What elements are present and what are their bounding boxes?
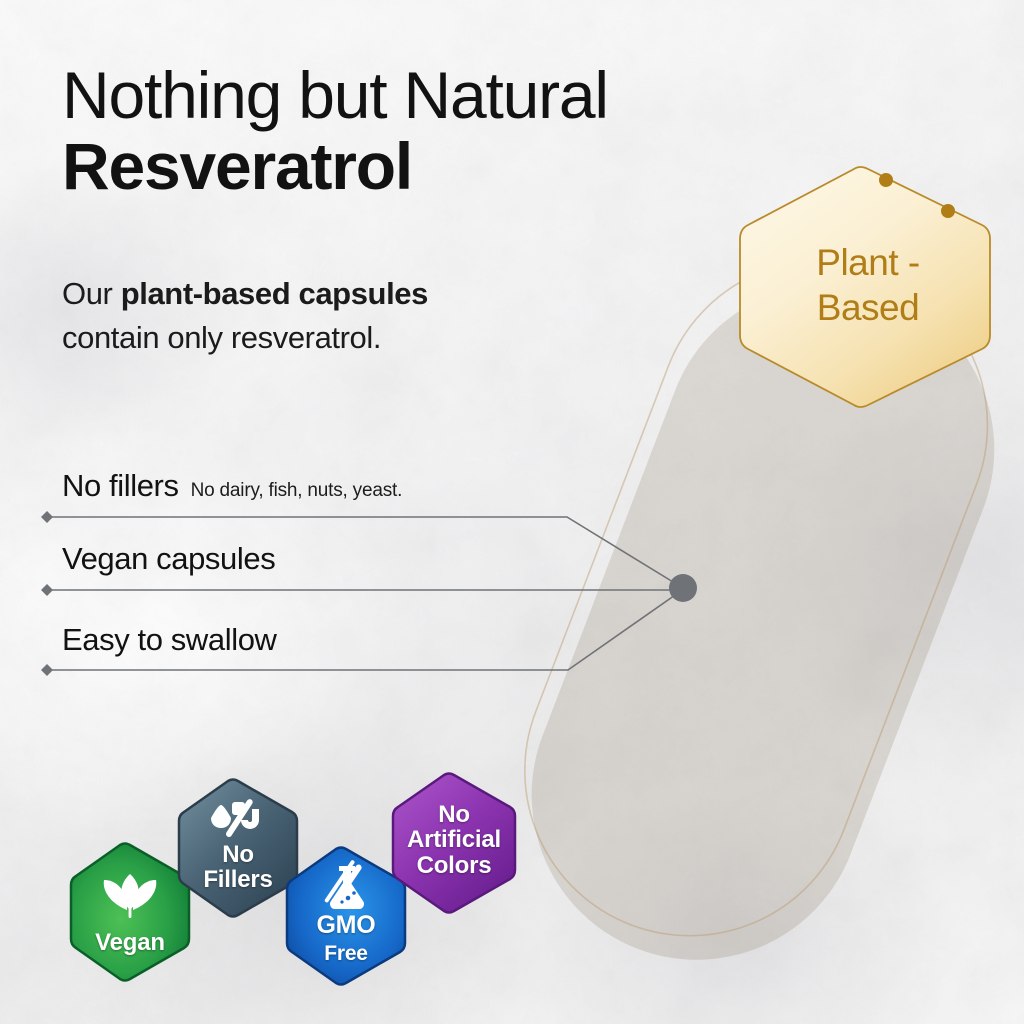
badge-label: GMO Free bbox=[284, 912, 408, 965]
badge-label-line-2: Artificial bbox=[407, 826, 501, 853]
headline-line-1: Nothing but Natural bbox=[62, 62, 822, 129]
subheading: Our plant-based capsules contain only re… bbox=[62, 272, 622, 360]
subheading-prefix: Our bbox=[62, 276, 121, 311]
callout-subtitle: No dairy, fish, nuts, yeast. bbox=[191, 480, 403, 501]
badge-no-fillers: No Fillers bbox=[176, 778, 300, 918]
badge-label-line-1: No bbox=[222, 841, 254, 868]
product-infographic: Nothing but Natural Resveratrol Our plan… bbox=[0, 0, 1024, 1024]
callout-title: No fillers bbox=[62, 468, 179, 503]
badge-label-line-1: Vegan bbox=[95, 929, 165, 956]
plant-based-label: Plant - Based bbox=[736, 163, 1000, 411]
leader-diamond-marker bbox=[41, 511, 53, 676]
badge-label: No Artificial Colors bbox=[390, 802, 518, 878]
callout-no-fillers: No fillersNo dairy, fish, nuts, yeast. bbox=[62, 468, 402, 504]
badge-no-artificial-colors: No Artificial Colors bbox=[390, 772, 518, 914]
callout-title: Easy to swallow bbox=[62, 622, 277, 657]
subheading-emphasis: plant-based capsules bbox=[121, 276, 428, 311]
badge-label: Vegan bbox=[68, 930, 192, 955]
headline-line-2: Resveratrol bbox=[62, 133, 822, 200]
badge-label-line-3: Colors bbox=[417, 852, 492, 879]
capsule-focus-dot bbox=[669, 574, 697, 602]
badge-label-line-2: Free bbox=[324, 942, 368, 965]
badge-label: No Fillers bbox=[176, 842, 300, 893]
plant-based-line-2: Based bbox=[817, 285, 919, 330]
badge-label-line-1: No bbox=[438, 801, 470, 828]
callout-vegan-capsules: Vegan capsules bbox=[62, 541, 275, 577]
plant-based-badge: Plant - Based bbox=[736, 163, 1000, 411]
page-title: Nothing but Natural Resveratrol bbox=[62, 62, 822, 201]
badge-label-line-1: GMO bbox=[316, 911, 375, 939]
badge-vegan: Vegan bbox=[68, 842, 192, 982]
badge-label-line-2: Fillers bbox=[203, 866, 272, 893]
subheading-suffix: contain only resveratrol. bbox=[62, 320, 381, 355]
callout-title: Vegan capsules bbox=[62, 541, 275, 576]
callout-easy-to-swallow: Easy to swallow bbox=[62, 622, 277, 658]
plant-based-line-1: Plant - bbox=[816, 240, 919, 285]
